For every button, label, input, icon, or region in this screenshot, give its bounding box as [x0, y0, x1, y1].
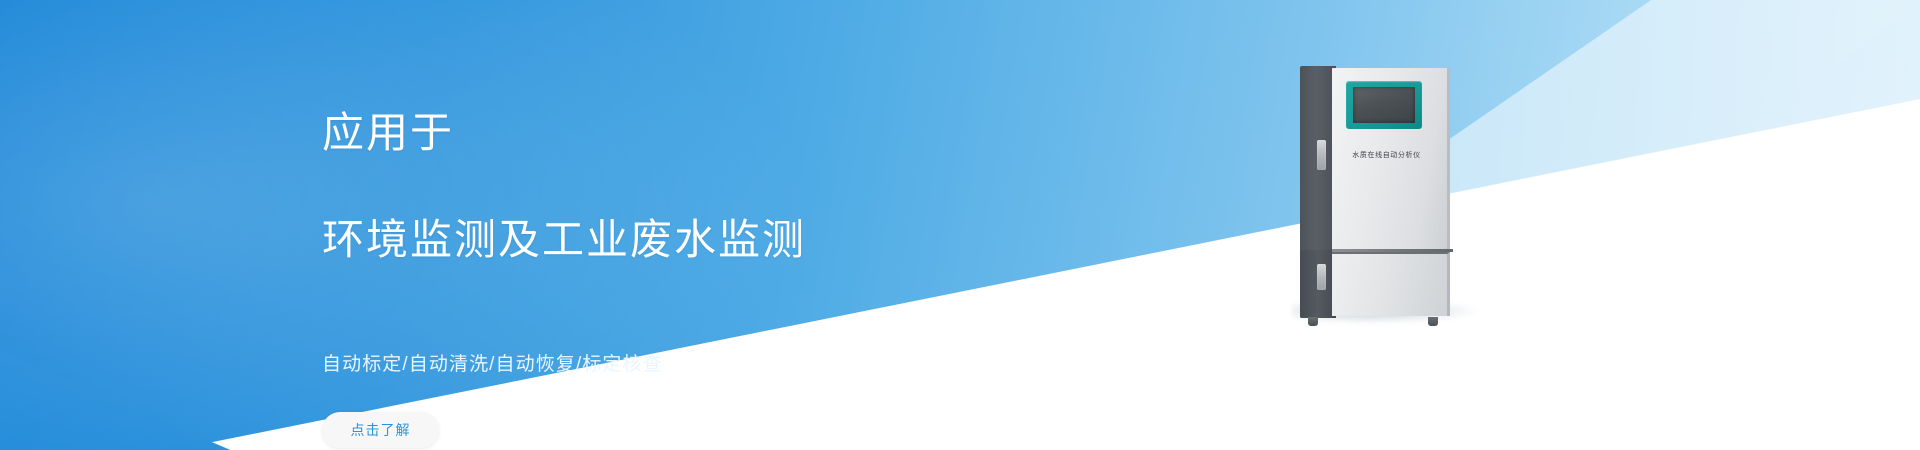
product-image-water-analyzer: 水质在线自动分析仪 [1300, 66, 1460, 318]
cabinet-upper-body: 水质在线自动分析仪 [1332, 68, 1450, 250]
headline-line-2: 环境监测及工业废水监测 [322, 213, 1042, 267]
display-bezel [1346, 81, 1422, 129]
hero-banner: 应用于 环境监测及工业废水监测 自动标定/自动清洗/自动恢复/标定核查 点击了解… [0, 0, 1920, 450]
headline-line-1: 应用于 [322, 106, 1042, 160]
display-screen [1353, 87, 1415, 123]
banner-subtitle: 自动标定/自动清洗/自动恢复/标定核查 [322, 349, 1042, 376]
learn-more-button[interactable]: 点击了解 [322, 412, 439, 448]
cabinet-lower-body [1332, 252, 1450, 316]
page-title: 应用于 环境监测及工业废水监测 [322, 52, 1042, 321]
cabinet-handle-upper [1317, 140, 1326, 170]
cabinet-label: 水质在线自动分析仪 [1332, 150, 1441, 160]
banner-copy: 应用于 环境监测及工业废水监测 自动标定/自动清洗/自动恢复/标定核查 点击了解 [322, 52, 1042, 448]
cabinet-handle-lower [1317, 264, 1326, 290]
cabinet-foot-right [1428, 317, 1438, 326]
cabinet-foot-left [1308, 317, 1318, 326]
